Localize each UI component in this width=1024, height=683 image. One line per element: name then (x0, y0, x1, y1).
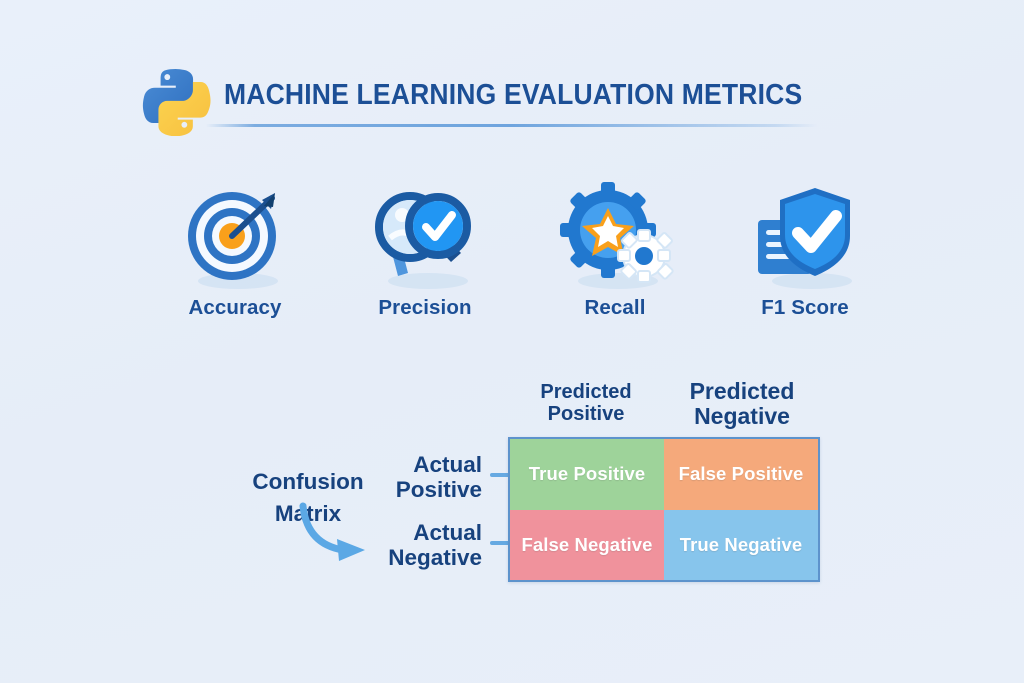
matrix-cell-false-positive[interactable]: False Positive (664, 439, 818, 510)
col-head-line2: Positive (508, 404, 664, 426)
header: MACHINE LEARNING EVALUATION METRICS (140, 62, 840, 142)
metric-label: Precision (378, 296, 471, 320)
row-header-actual-negative: Actual Negative (322, 521, 482, 571)
infographic-canvas: MACHINE LEARNING EVALUATION METRICS A (0, 0, 1024, 683)
page-title: MACHINE LEARNING EVALUATION METRICS (224, 79, 802, 112)
python-logo (140, 64, 212, 136)
matrix-cell-true-negative[interactable]: True Negative (664, 510, 818, 581)
matrix-cell-false-negative[interactable]: False Negative (510, 510, 664, 581)
title-underline (206, 124, 818, 127)
col-head-line1: Predicted (508, 382, 664, 404)
confusion-matrix-grid: True Positive False Positive False Negat… (508, 437, 820, 582)
row-head-line2: Negative (322, 546, 482, 571)
row-head-line1: Actual (322, 453, 482, 478)
gear-star-icon (556, 180, 674, 292)
row-header-actual-positive: Actual Positive (322, 453, 482, 503)
metric-f1-score[interactable]: F1 Score (710, 180, 900, 340)
target-arrow-icon (176, 180, 294, 292)
magnifying-glass-check-icon (366, 180, 484, 292)
metric-label: Recall (585, 296, 646, 320)
metric-label: Accuracy (188, 296, 281, 320)
shield-check-document-icon (746, 180, 864, 292)
column-header-predicted-negative: Predicted Negative (664, 379, 820, 429)
matrix-cell-true-positive[interactable]: True Positive (510, 439, 664, 510)
col-head-line2: Negative (664, 404, 820, 429)
metric-accuracy[interactable]: Accuracy (140, 180, 330, 340)
row-head-line2: Positive (322, 478, 482, 503)
col-head-line1: Predicted (664, 379, 820, 404)
metric-label: F1 Score (761, 296, 848, 320)
metric-precision[interactable]: Precision (330, 180, 520, 340)
column-header-predicted-positive: Predicted Positive (508, 382, 664, 425)
row-head-line1: Actual (322, 521, 482, 546)
metrics-row: Accuracy Precision (140, 180, 900, 340)
metric-recall[interactable]: Recall (520, 180, 710, 340)
